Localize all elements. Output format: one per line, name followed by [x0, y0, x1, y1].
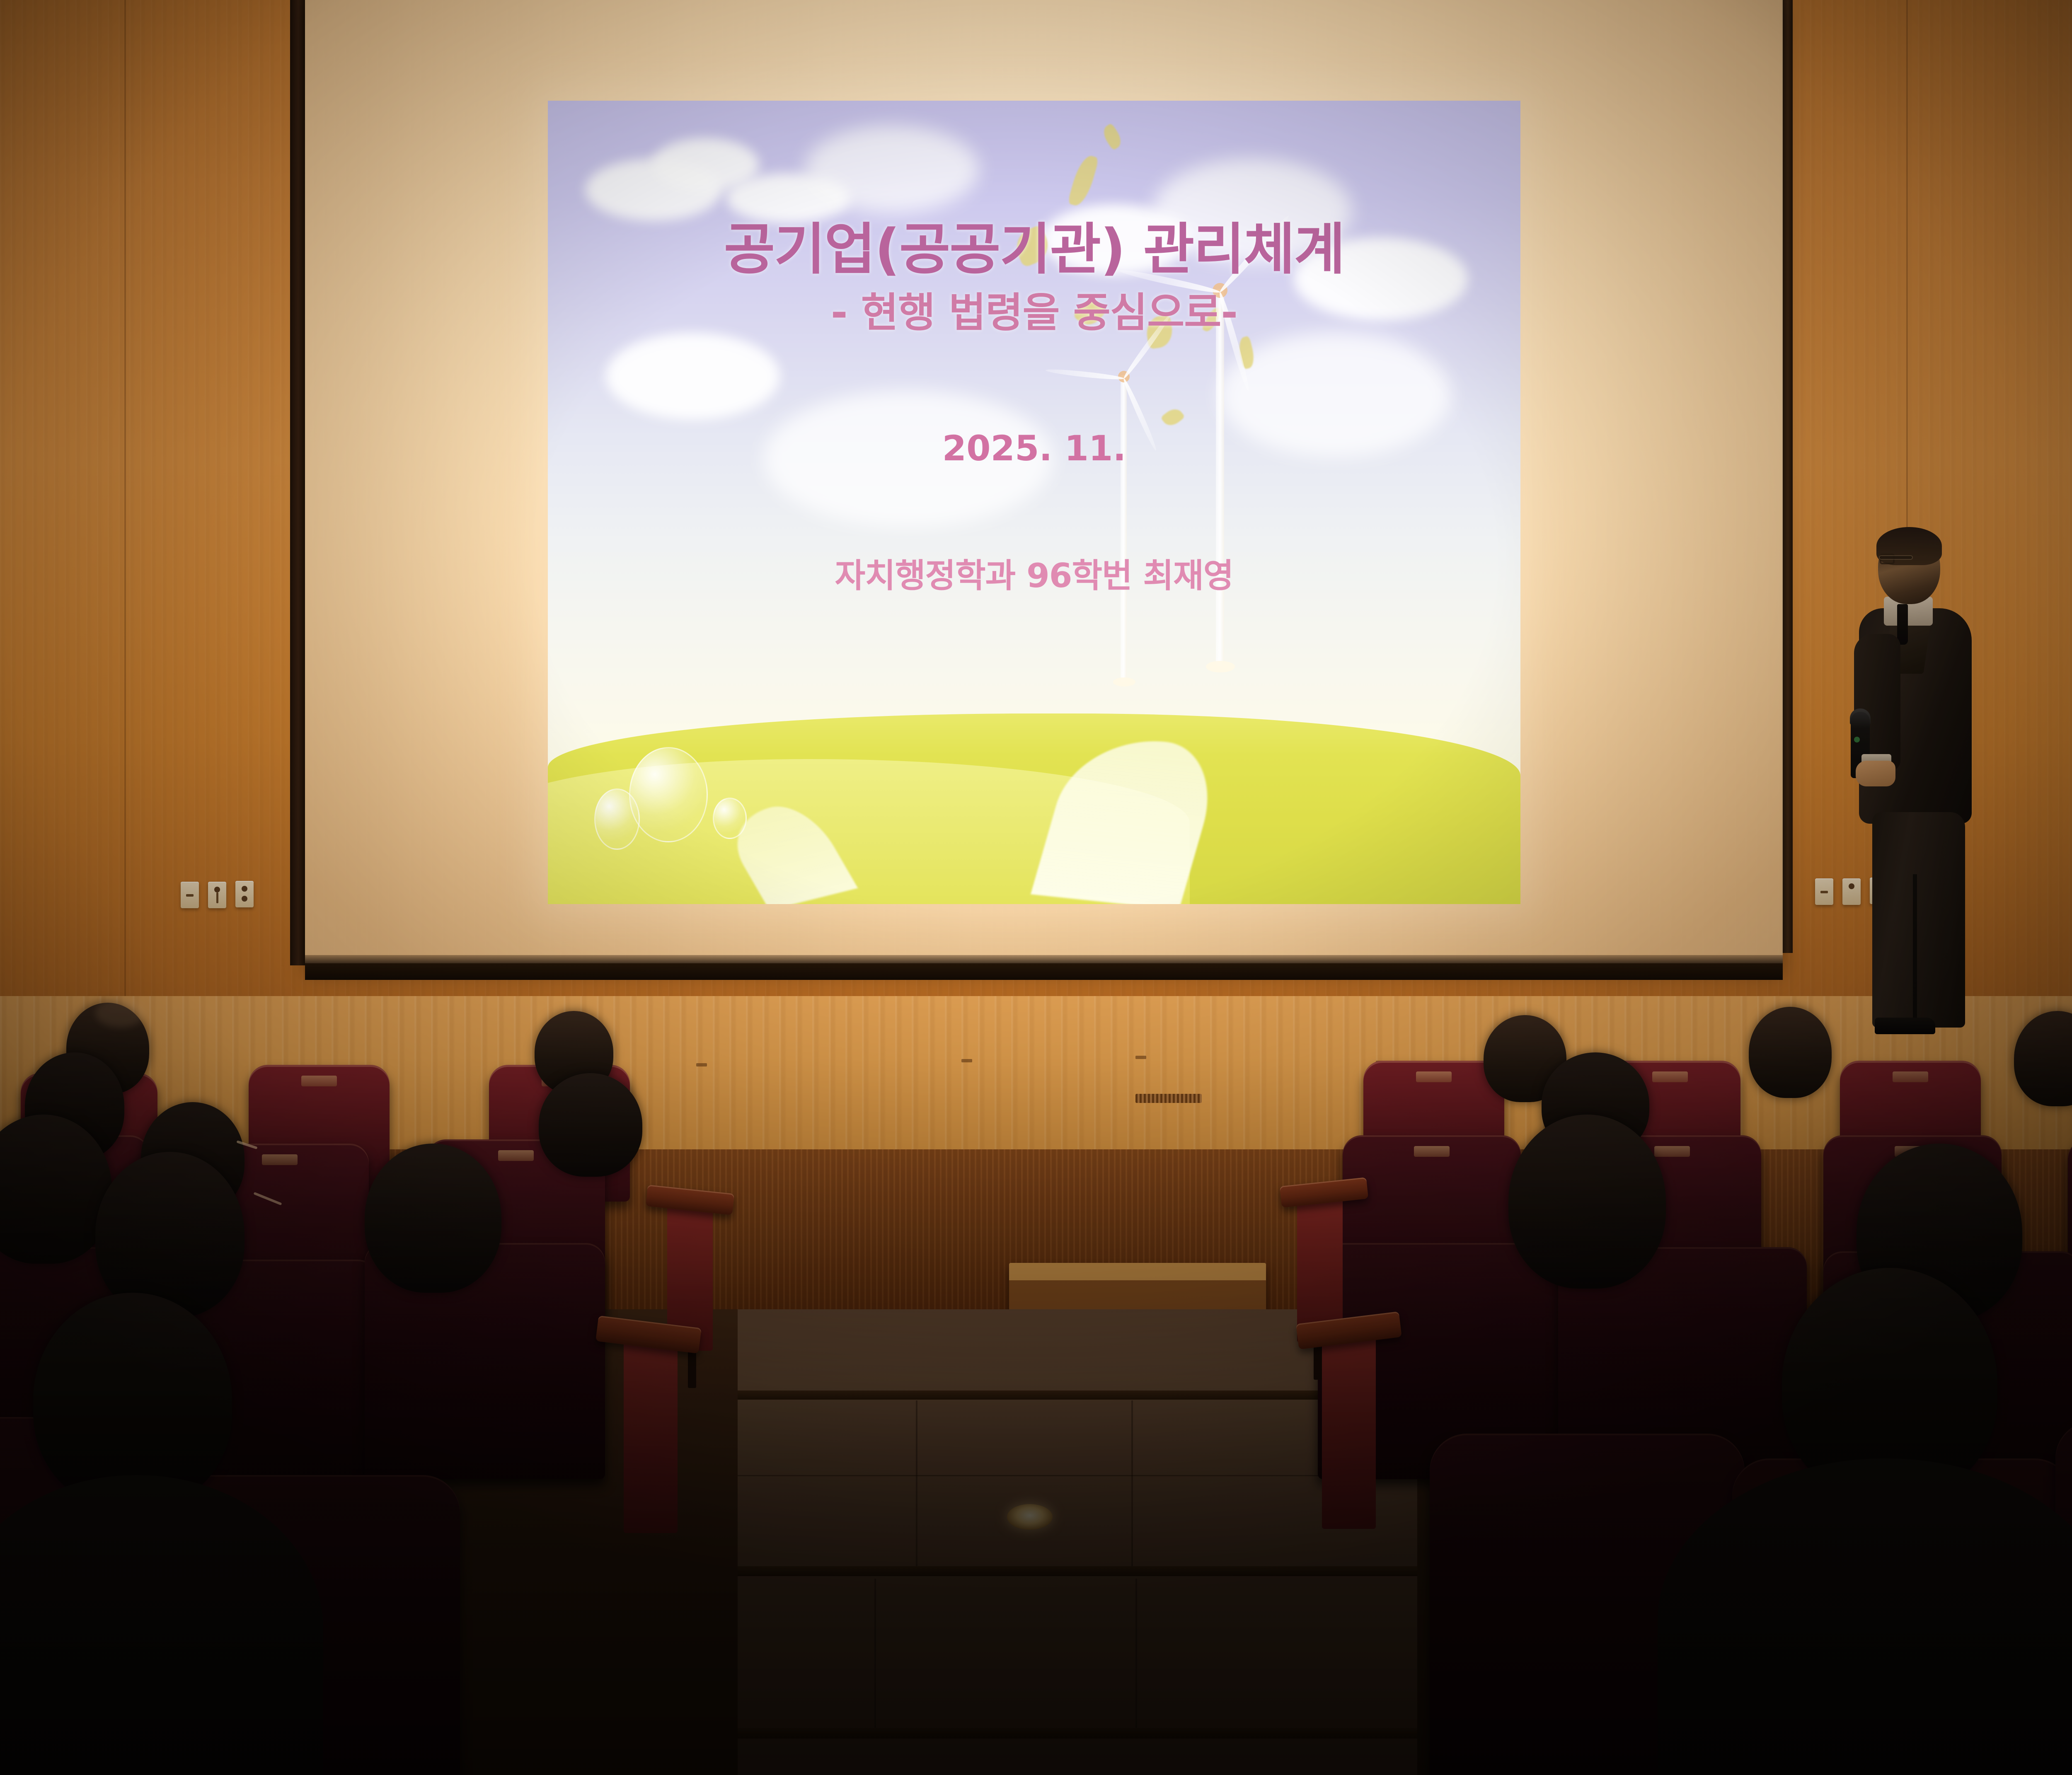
tile-grout-line	[738, 1475, 1417, 1476]
audience-head	[1749, 1007, 1832, 1098]
slide-subtitle: - 현행 법령을 중심으로-	[548, 280, 1520, 339]
bubble	[713, 798, 747, 839]
tile-grout-line	[1131, 1400, 1133, 1566]
switch-plate-icon	[181, 882, 199, 908]
seat-armrest-side	[624, 1338, 678, 1533]
seat-number-tag	[1414, 1146, 1450, 1157]
audience-head	[1508, 1115, 1666, 1289]
seat-number-tag	[301, 1076, 337, 1086]
aisle-step-nose	[738, 1728, 1417, 1739]
seat-number-tag	[262, 1154, 298, 1165]
screen-bottom-bar	[305, 963, 1783, 980]
presenter-necktie	[1897, 604, 1908, 645]
glasses-icon	[1880, 554, 1895, 564]
audience-head	[539, 1073, 642, 1177]
seat-number-tag	[1893, 1071, 1928, 1082]
cloud	[606, 333, 780, 420]
presenter	[1840, 530, 1989, 1040]
audience-head	[365, 1144, 501, 1293]
wall-seam	[124, 0, 126, 1023]
aisle-step-nose	[738, 1566, 1417, 1576]
slide-title: 공기업(공공기관) 관리체계	[548, 204, 1520, 285]
seat-armrest-side	[1322, 1334, 1376, 1529]
presenter-leg-split	[1913, 874, 1917, 1023]
glasses-bridge-icon	[1880, 556, 1912, 559]
stage-joint	[961, 1059, 972, 1062]
auditorium-scene: 공기업(공공기관) 관리체계 - 현행 법령을 중심으로- 2025. 11. …	[0, 0, 2072, 1775]
presenter-shoe	[1875, 1018, 1935, 1034]
data-jack-plate-icon	[208, 882, 226, 908]
tile-grout-line	[1135, 1579, 1137, 1728]
seat-number-tag	[1652, 1071, 1688, 1082]
cloud	[805, 126, 979, 213]
screen-frame-left	[290, 0, 305, 965]
power-outlet-plate-icon[interactable]	[235, 881, 254, 907]
stage-joint	[1135, 1056, 1146, 1059]
seat-number-tag	[1654, 1146, 1690, 1157]
stage-joint	[696, 1063, 707, 1066]
bubble	[594, 788, 640, 850]
switch-plate-icon	[1815, 878, 1833, 905]
tile-grout-line	[916, 1400, 917, 1566]
hair-highlight	[95, 999, 145, 1028]
tile-grout-line	[874, 1579, 876, 1728]
microphone-led-icon	[1854, 737, 1860, 742]
stage-floor-vent	[1135, 1094, 1202, 1103]
seat-number-tag	[1416, 1071, 1452, 1082]
audience-head	[95, 1152, 244, 1318]
screen-frame-right	[1782, 0, 1793, 953]
presenter-trousers	[1872, 812, 1965, 1028]
presenter-hand	[1856, 761, 1895, 786]
aisle-floor-light-icon	[1007, 1504, 1053, 1530]
wind-turbine	[1106, 313, 1198, 727]
bubble	[629, 747, 708, 842]
aisle-step-nose	[738, 1390, 1417, 1400]
seat-number-tag	[498, 1150, 534, 1161]
presentation-slide: 공기업(공공기관) 관리체계 - 현행 법령을 중심으로- 2025. 11. …	[548, 101, 1520, 904]
slide-author: 자치행정학과 96학번 최재영	[548, 549, 1520, 597]
slide-date: 2025. 11.	[548, 428, 1520, 469]
